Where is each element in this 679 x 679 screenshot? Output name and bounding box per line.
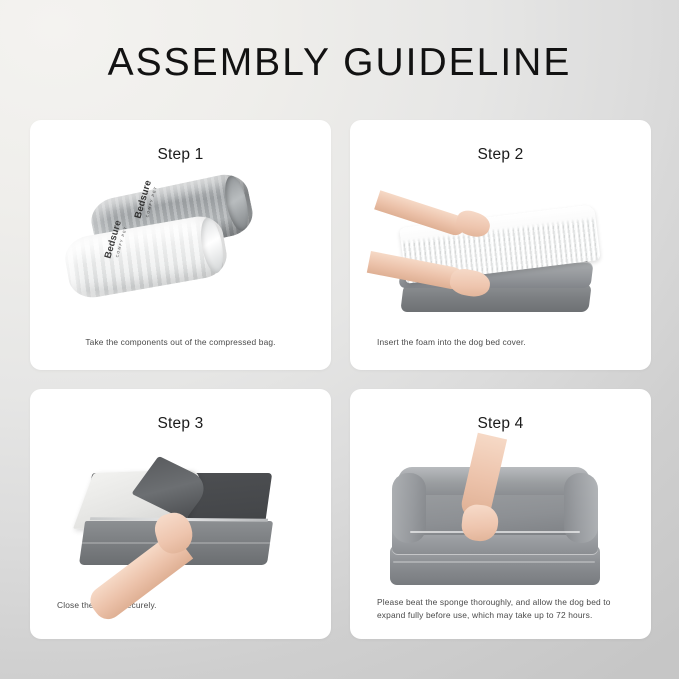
step-2-illustration [350,164,651,336]
step-3-illustration [30,433,331,599]
step-card-1: Step 1 Bedsure COMFY PET Bedsure COMFY P… [30,120,331,370]
assembly-guideline-page: ASSEMBLY GUIDELINE Step 1 Bedsure COMFY … [0,0,679,679]
steps-grid: Step 1 Bedsure COMFY PET Bedsure COMFY P… [30,120,650,639]
step-3-heading: Step 3 [30,415,331,433]
step-4-illustration [350,433,651,596]
compressed-roll-white-icon [62,213,230,302]
page-title: ASSEMBLY GUIDELINE [108,41,572,85]
step-2-heading: Step 2 [350,146,651,164]
step-1-heading: Step 1 [30,146,331,164]
step-card-3: Step 3 Close the zipper securely. [30,389,331,639]
step-4-heading: Step 4 [350,415,651,433]
step-card-2: Step 2 Insert the foam into the dog bed … [350,120,651,370]
step-2-caption: Insert the foam into the dog bed cover. [350,336,651,350]
dog-bed-cover-bottom [400,284,591,312]
step-3-caption: Close the zipper securely. [30,599,331,613]
step-card-4: Step 4 Please beat the sponge thoroughly… [350,389,651,639]
step-4-caption: Please beat the sponge thoroughly, and a… [350,596,651,623]
step-1-illustration: Bedsure COMFY PET Bedsure COMFY PET [30,164,331,336]
step-1-caption: Take the components out of the compresse… [30,336,331,350]
